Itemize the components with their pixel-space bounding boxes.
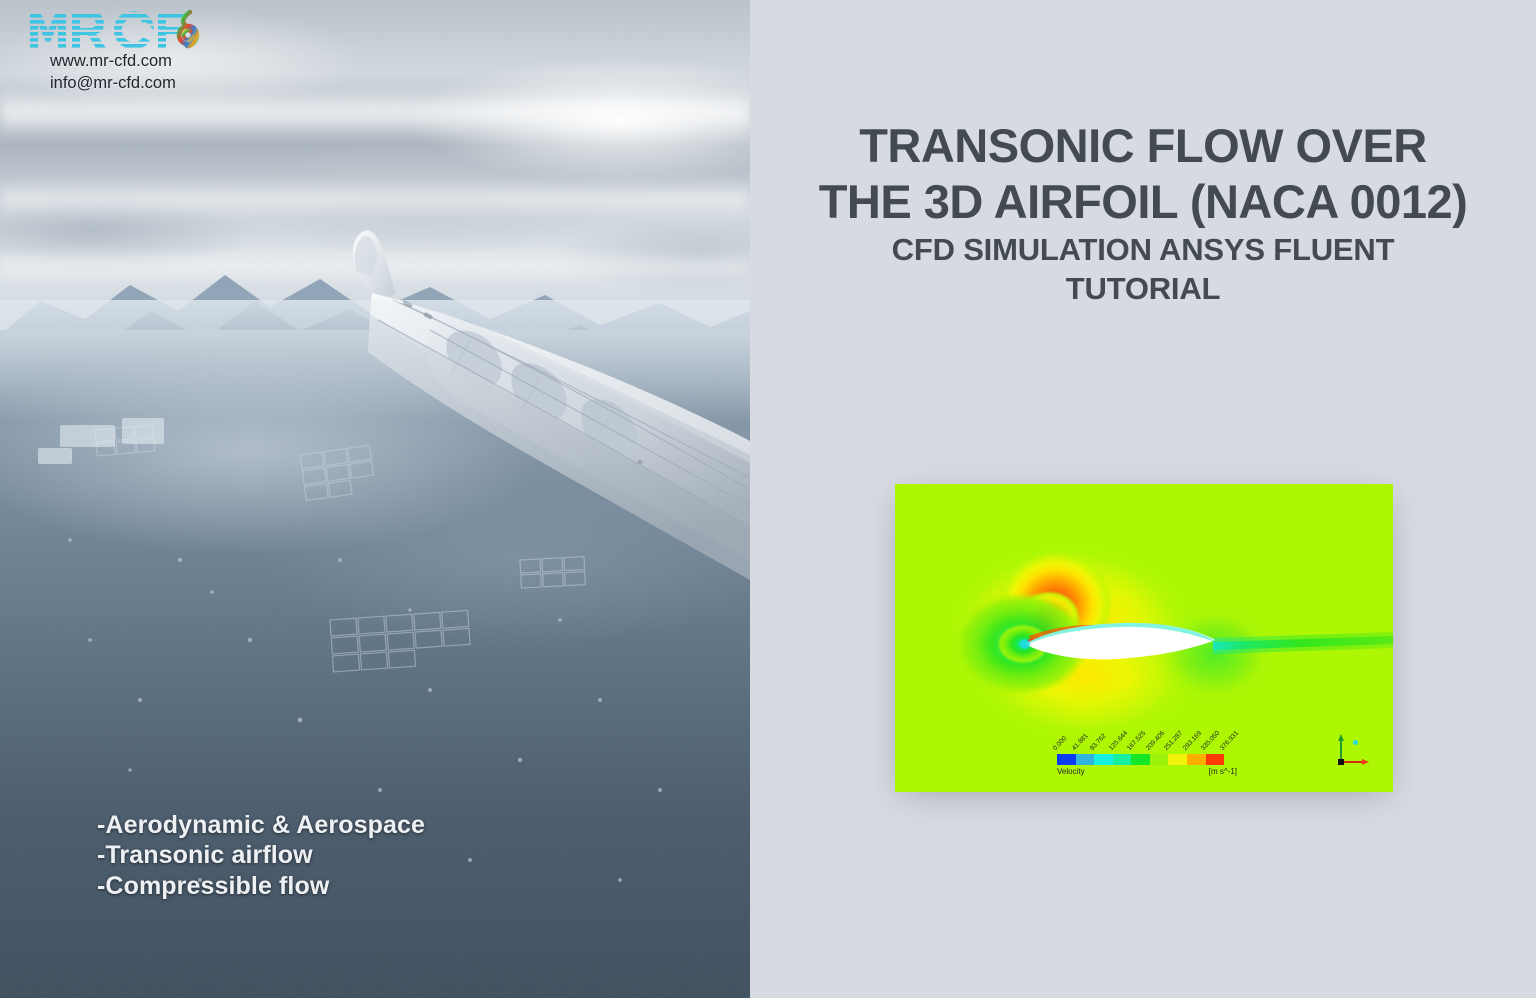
bullet-item: -Transonic airflow [97, 840, 617, 870]
colorbar-tick: 293.169 [1181, 730, 1202, 752]
colorbar-tick: 335.050 [1200, 730, 1221, 752]
colorbar-tick: 167.525 [1126, 730, 1147, 752]
colorbar-tick: 251.287 [1163, 730, 1184, 752]
bullet-item: -Compressible flow [97, 871, 617, 901]
colorbar-swatches [1057, 754, 1224, 765]
colorbar-field-label: Velocity [1057, 767, 1085, 776]
subtitle-line-1: CFD SIMULATION ANSYS FLUENT [750, 230, 1536, 269]
logo-contact-lines: www.mr-cfd.com info@mr-cfd.com [50, 51, 176, 95]
colorbar-tick: 125.644 [1107, 730, 1128, 752]
aerial-photo: -Aerodynamic & Aerospace -Transonic airf… [0, 0, 750, 998]
colorbar-swatch [1187, 754, 1206, 765]
colorbar-tick: 83.762 [1089, 732, 1108, 752]
axis-triad-icon [1333, 732, 1373, 768]
logo-website[interactable]: www.mr-cfd.com [50, 51, 176, 73]
colorbar-tick: 209.406 [1144, 730, 1165, 752]
colorbar-swatch [1113, 754, 1132, 765]
poster-canvas: -Aerodynamic & Aerospace -Transonic airf… [0, 0, 1536, 998]
logo-wordmark-icon [28, 8, 203, 52]
colorbar-tick-labels: 0.000 41.881 83.762 125.644 167.525 209.… [1057, 724, 1257, 752]
title-line-1: TRANSONIC FLOW OVER [750, 118, 1536, 174]
bullet-item: -Aerodynamic & Aerospace [97, 810, 617, 840]
colorbar-swatch [1076, 754, 1095, 765]
colorbar-tick: 376.931 [1218, 730, 1239, 752]
colorbar-swatch [1057, 754, 1076, 765]
axis-z-dot-icon [1353, 740, 1358, 745]
colorbar-legend: 0.000 41.881 83.762 125.644 167.525 209.… [1057, 724, 1257, 782]
colorbar-swatch [1131, 754, 1150, 765]
logo-email[interactable]: info@mr-cfd.com [50, 73, 176, 95]
colorbar-footer: Velocity [m s^-1] [1057, 767, 1229, 781]
colorbar-swatch [1168, 754, 1187, 765]
mr-cfd-logo[interactable]: www.mr-cfd.com info@mr-cfd.com [18, 8, 278, 100]
colorbar-swatch [1206, 754, 1225, 765]
subtitle-line-2: TUTORIAL [750, 269, 1536, 308]
feature-bullets: -Aerodynamic & Aerospace -Transonic airf… [97, 810, 617, 901]
page-title: TRANSONIC FLOW OVER THE 3D AIRFOIL (NACA… [750, 118, 1536, 308]
colorbar-swatch [1094, 754, 1113, 765]
colorbar-swatch [1150, 754, 1169, 765]
colorbar-units-label: [m s^-1] [1209, 767, 1237, 776]
cfd-velocity-contour-figure[interactable]: 0.000 41.881 83.762 125.644 167.525 209.… [895, 484, 1393, 792]
title-line-2: THE 3D AIRFOIL (NACA 0012) [750, 174, 1536, 230]
colorbar-tick: 41.881 [1070, 732, 1089, 752]
